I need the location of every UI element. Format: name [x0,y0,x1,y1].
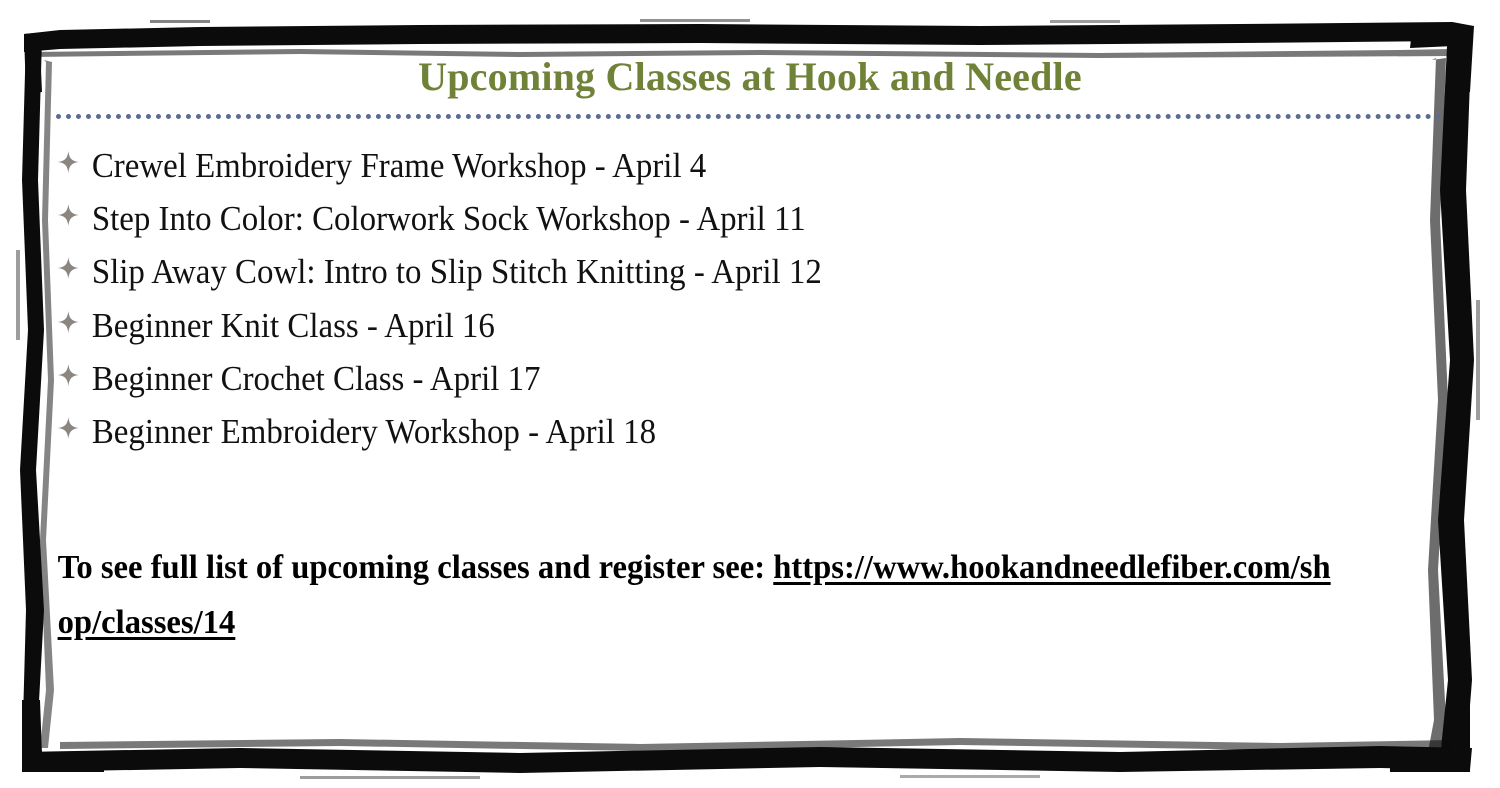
list-item: Beginner Knit Class - April 16 [58,299,1368,352]
sparkle-four-point-star-icon [58,311,79,333]
class-label: Slip Away Cowl: Intro to Slip Stitch Kni… [92,245,822,298]
list-item: Beginner Crochet Class - April 17 [58,352,1368,405]
list-item: Crewel Embroidery Frame Workshop - April… [58,139,1368,192]
class-label: Beginner Crochet Class - April 17 [92,352,541,405]
list-item: Step Into Color: Colorwork Sock Workshop… [58,192,1368,245]
footer-lead-text: To see full list of upcoming classes and… [58,549,774,586]
class-label: Beginner Knit Class - April 16 [92,299,495,352]
sparkle-four-point-star-icon [58,364,79,386]
sparkle-four-point-star-icon [58,257,79,279]
footer-call-to-action: To see full list of upcoming classes and… [48,458,1334,650]
sparkle-four-point-star-icon [58,204,79,226]
slide-canvas: Upcoming Classes at Hook and Needle Crew… [0,0,1500,788]
page-title: Upcoming Classes at Hook and Needle [48,46,1452,100]
class-label: Beginner Embroidery Workshop - April 18 [92,405,656,458]
list-item: Beginner Embroidery Workshop - April 18 [58,405,1368,458]
sparkle-four-point-star-icon [58,151,79,173]
list-item: Slip Away Cowl: Intro to Slip Stitch Kni… [58,245,1368,298]
class-label: Step Into Color: Colorwork Sock Workshop… [92,192,806,245]
slide-content: Upcoming Classes at Hook and Needle Crew… [48,46,1452,736]
class-list: Crewel Embroidery Frame Workshop - April… [48,119,1452,458]
sparkle-four-point-star-icon [58,417,79,439]
class-label: Crewel Embroidery Frame Workshop - April… [92,139,706,192]
